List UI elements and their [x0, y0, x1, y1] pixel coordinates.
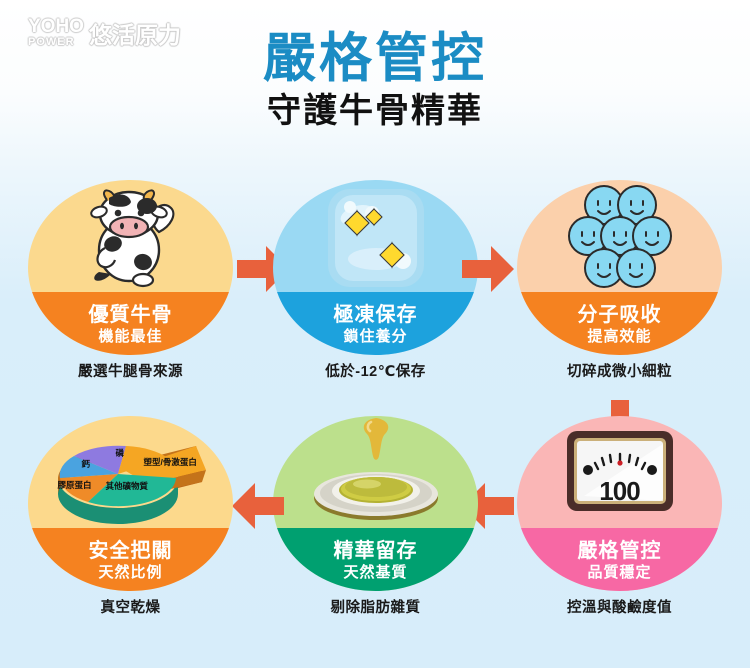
- step-5-bubble: 精華留存 天然基質: [273, 416, 478, 591]
- step-1-title: 優質牛骨: [89, 304, 173, 327]
- step-6-band: 安全把關 天然比例: [28, 528, 233, 591]
- step-4-artwork: 100: [517, 416, 722, 528]
- step-2-subtitle: 鎖住養分: [343, 328, 407, 346]
- step-5-caption: 剔除脂肪雜質: [253, 596, 498, 617]
- step-4-strict-control: 100 嚴格管控 品質穩定 控溫與酸鹼度值: [497, 416, 742, 617]
- step-3-band: 分子吸收 提高效能: [517, 292, 722, 355]
- title-sub: 守護牛骨精華: [0, 92, 750, 131]
- step-1-bubble: 優質牛骨 機能最佳: [28, 180, 233, 355]
- gauge-value: 100: [566, 476, 674, 507]
- step-1-band: 優質牛骨 機能最佳: [28, 292, 233, 355]
- oil-dish-icon: [301, 416, 451, 533]
- step-6-title: 安全把關: [89, 540, 173, 563]
- step-6-safety-check: 鈣 磷 塑型/骨激蛋白 其他礦物質 膠原蛋白 安全把關 天然比例 真空乾燥: [8, 416, 253, 617]
- pie-label-phosphorus: 磷: [116, 447, 125, 459]
- step-3-molecular-absorption: 分子吸收 提高效能 切碎成微小細粒: [497, 180, 742, 381]
- process-flow: 優質牛骨 機能最佳 嚴選牛腿骨來源: [0, 178, 750, 668]
- step-1-premium-bone: 優質牛骨 機能最佳 嚴選牛腿骨來源: [8, 180, 253, 381]
- step-4-subtitle: 品質穩定: [587, 564, 651, 582]
- step-3-artwork: [517, 180, 722, 292]
- pie-label-bone-protein: 塑型/骨激蛋白: [144, 456, 197, 468]
- step-4-title: 嚴格管控: [578, 540, 662, 563]
- step-4-band: 嚴格管控 品質穩定: [517, 528, 722, 591]
- molecules-icon: [559, 185, 681, 300]
- step-2-title: 極凍保存: [334, 304, 418, 327]
- step-4-bubble: 100 嚴格管控 品質穩定: [517, 416, 722, 591]
- step-6-caption: 真空乾燥: [8, 596, 253, 617]
- step-6-artwork: 鈣 磷 塑型/骨激蛋白 其他礦物質 膠原蛋白: [28, 416, 233, 528]
- pie-label-calcium: 鈣: [82, 458, 91, 470]
- pie-label-other-minerals: 其他礦物質: [106, 480, 149, 492]
- page-title: 嚴格管控 守護牛骨精華: [0, 30, 750, 131]
- step-2-bubble: 極凍保存 鎖住養分: [273, 180, 478, 355]
- step-6-subtitle: 天然比例: [98, 564, 162, 582]
- step-1-artwork: [28, 180, 233, 292]
- step-3-bubble: 分子吸收 提高效能: [517, 180, 722, 355]
- step-1-subtitle: 機能最佳: [98, 328, 162, 346]
- step-5-artwork: [273, 416, 478, 528]
- step-2-band: 極凍保存 鎖住養分: [273, 292, 478, 355]
- pie-chart-icon: 鈣 磷 塑型/骨激蛋白 其他礦物質 膠原蛋白: [36, 424, 226, 528]
- step-5-essence-retained: 精華留存 天然基質 剔除脂肪雜質: [253, 416, 498, 617]
- step-2-caption: 低於-12℃保存: [253, 360, 498, 381]
- step-6-bubble: 鈣 磷 塑型/骨激蛋白 其他礦物質 膠原蛋白 安全把關 天然比例: [28, 416, 233, 591]
- step-4-caption: 控溫與酸鹼度值: [497, 596, 742, 617]
- title-main: 嚴格管控: [0, 30, 750, 88]
- step-3-title: 分子吸收: [578, 304, 662, 327]
- step-3-caption: 切碎成微小細粒: [497, 360, 742, 381]
- gauge-icon: 100: [566, 430, 674, 512]
- pie-label-collagen: 膠原蛋白: [58, 479, 92, 491]
- step-5-title: 精華留存: [334, 540, 418, 563]
- step-5-subtitle: 天然基質: [343, 564, 407, 582]
- step-5-band: 精華留存 天然基質: [273, 528, 478, 591]
- step-1-caption: 嚴選牛腿骨來源: [8, 360, 253, 381]
- cow-icon: [71, 186, 191, 299]
- step-2-artwork: [273, 180, 478, 292]
- step-3-subtitle: 提高效能: [587, 328, 651, 346]
- ice-cube-icon: [324, 185, 428, 296]
